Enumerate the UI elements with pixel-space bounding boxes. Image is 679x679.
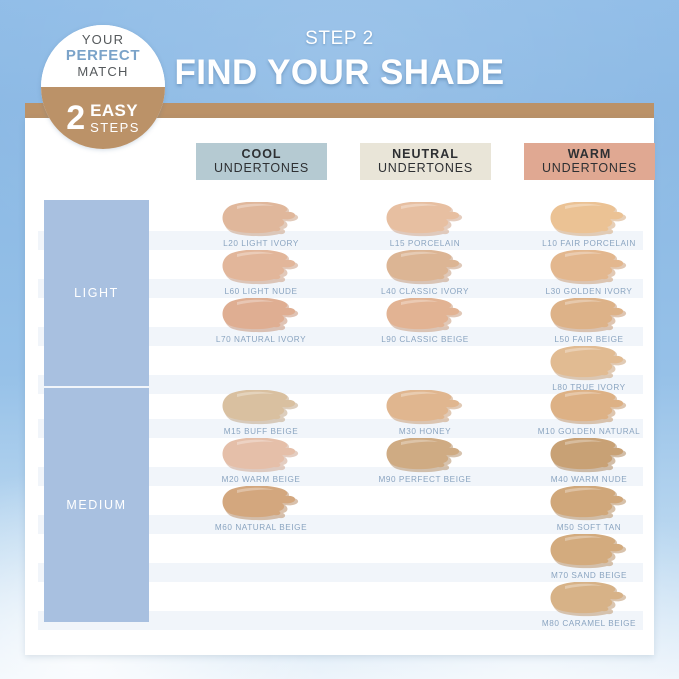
shade-swatch-icon [547, 582, 631, 618]
shade-swatch-icon [219, 390, 303, 426]
shade-label: M90 PERFECT BEIGE [350, 475, 500, 484]
shade-cell[interactable]: M60 NATURAL BEIGE [186, 486, 336, 532]
column-header-title: NEUTRAL [392, 147, 459, 161]
shade-swatch-icon [219, 202, 303, 238]
perfect-match-badge: YOUR PERFECT MATCH 2 EASY STEPS [41, 25, 165, 149]
shade-swatch-icon [383, 202, 467, 238]
shade-cell[interactable]: M30 HONEY [350, 390, 500, 436]
group-band-medium: MEDIUM [44, 388, 149, 622]
shade-label: L50 FAIR BEIGE [514, 335, 664, 344]
shade-cell[interactable]: L20 LIGHT IVORY [186, 202, 336, 248]
badge-line-perfect: PERFECT [66, 47, 140, 64]
shade-label: M70 SAND BEIGE [514, 571, 664, 580]
column-header-subtitle: UNDERTONES [214, 161, 309, 176]
shade-swatch-icon [547, 486, 631, 522]
shade-swatch-icon [547, 390, 631, 426]
column-header-title: COOL [241, 147, 281, 161]
group-band-light: LIGHT [44, 200, 149, 386]
shade-cell[interactable]: M90 PERFECT BEIGE [350, 438, 500, 484]
shade-label: L20 LIGHT IVORY [186, 239, 336, 248]
shade-swatch-icon [547, 298, 631, 334]
shade-cell[interactable]: M70 SAND BEIGE [514, 534, 664, 580]
badge-easy-label: EASY [90, 102, 138, 120]
column-header-warm: WARMUNDERTONES [524, 143, 655, 180]
shade-swatch-icon [219, 250, 303, 286]
shade-cell[interactable]: L70 NATURAL IVORY [186, 298, 336, 344]
badge-line-your: YOUR [82, 32, 124, 47]
badge-steps-label: STEPS [90, 120, 140, 135]
badge-line-match: MATCH [77, 64, 128, 80]
shade-cell[interactable]: M80 CARAMEL BEIGE [514, 582, 664, 628]
group-label: LIGHT [74, 286, 119, 300]
group-label: MEDIUM [66, 498, 126, 512]
shade-cell[interactable]: M40 WARM NUDE [514, 438, 664, 484]
shade-cell[interactable]: L90 CLASSIC BEIGE [350, 298, 500, 344]
shade-swatch-icon [219, 486, 303, 522]
shade-label: M60 NATURAL BEIGE [186, 523, 336, 532]
shade-swatch-icon [219, 298, 303, 334]
shade-cell[interactable]: L80 TRUE IVORY [514, 346, 664, 392]
shade-swatch-icon [547, 202, 631, 238]
shade-swatch-icon [219, 438, 303, 474]
shade-swatch-icon [547, 346, 631, 382]
shade-label: M15 BUFF BEIGE [186, 427, 336, 436]
column-header-title: WARM [568, 147, 612, 161]
shade-cell[interactable]: L15 PORCELAIN [350, 202, 500, 248]
shade-label: L90 CLASSIC BEIGE [350, 335, 500, 344]
badge-top: YOUR PERFECT MATCH [41, 25, 165, 87]
shade-label: M80 CARAMEL BEIGE [514, 619, 664, 628]
shade-cell[interactable]: M15 BUFF BEIGE [186, 390, 336, 436]
shade-label: L70 NATURAL IVORY [186, 335, 336, 344]
column-header-subtitle: UNDERTONES [378, 161, 473, 176]
shade-label: M20 WARM BEIGE [186, 475, 336, 484]
shade-label: L40 CLASSIC IVORY [350, 287, 500, 296]
shade-cell[interactable]: M20 WARM BEIGE [186, 438, 336, 484]
shade-label: M40 WARM NUDE [514, 475, 664, 484]
shade-label: L10 FAIR PORCELAIN [514, 239, 664, 248]
column-header-subtitle: UNDERTONES [542, 161, 637, 176]
shade-cell[interactable]: L50 FAIR BEIGE [514, 298, 664, 344]
shade-label: L30 GOLDEN IVORY [514, 287, 664, 296]
shade-swatch-icon [383, 250, 467, 286]
shade-swatch-icon [383, 438, 467, 474]
shade-cell[interactable]: M10 GOLDEN NATURAL [514, 390, 664, 436]
badge-number: 2 [66, 101, 85, 135]
shade-label: L15 PORCELAIN [350, 239, 500, 248]
shade-swatch-icon [547, 534, 631, 570]
column-header-neutral: NEUTRALUNDERTONES [360, 143, 491, 180]
shade-cell[interactable]: L10 FAIR PORCELAIN [514, 202, 664, 248]
shade-cell[interactable]: L40 CLASSIC IVORY [350, 250, 500, 296]
shade-swatch-icon [383, 390, 467, 426]
badge-bottom: 2 EASY STEPS [41, 87, 165, 149]
shade-swatch-icon [547, 250, 631, 286]
shade-cell[interactable]: L30 GOLDEN IVORY [514, 250, 664, 296]
shade-cell[interactable]: M50 SOFT TAN [514, 486, 664, 532]
shade-label: M50 SOFT TAN [514, 523, 664, 532]
shade-label: M10 GOLDEN NATURAL [514, 427, 664, 436]
shade-swatch-icon [383, 298, 467, 334]
shade-swatch-icon [547, 438, 631, 474]
shade-grid: COOLUNDERTONESNEUTRALUNDERTONESWARMUNDER… [25, 118, 654, 655]
shade-cell[interactable]: L60 LIGHT NUDE [186, 250, 336, 296]
shade-label: L60 LIGHT NUDE [186, 287, 336, 296]
column-header-cool: COOLUNDERTONES [196, 143, 327, 180]
shade-label: M30 HONEY [350, 427, 500, 436]
